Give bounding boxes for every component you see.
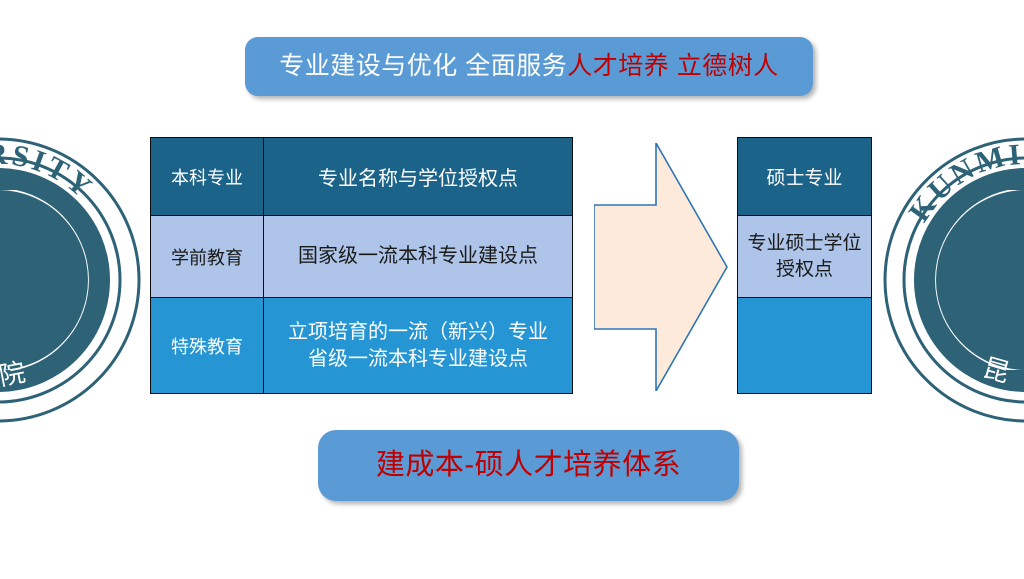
undergraduate-majors-table: 本科专业 专业名称与学位授权点 学前教育 国家级一流本科专业建设点 特殊教育 立… [150, 137, 573, 394]
table-row: 学前教育 国家级一流本科专业建设点 [151, 216, 573, 298]
table-header-cell-undergrad-major: 本科专业 [151, 138, 264, 216]
table-cell-professional-master-degree: 专业硕士学位 授权点 [738, 216, 872, 298]
top-banner-segment-red: 人才培养 立德树人 [567, 52, 778, 80]
bottom-banner: 建成本-硕人才培养体系 [318, 430, 739, 501]
table-cell-special-education: 特殊教育 [151, 298, 264, 394]
table-cell-preschool-education: 学前教育 [151, 216, 264, 298]
table-cell-empty [738, 298, 872, 394]
bottom-banner-text: 建成本-硕人才培养体系 [376, 451, 681, 480]
master-majors-table: 硕士专业 专业硕士学位 授权点 [737, 137, 872, 394]
right-arrow-shape [594, 143, 728, 391]
university-logo-right: KUNMING U 昆 明 [876, 130, 1024, 430]
table-row: 专业硕士学位 授权点 [738, 216, 872, 298]
table-row [738, 298, 872, 394]
table-row: 硕士专业 [738, 138, 872, 216]
arrow-polygon [594, 143, 727, 391]
top-banner-segment-white: 专业建设与优化 全面服务 [279, 52, 567, 80]
cell-line-1: 立项培育的一流（新兴）专业 [268, 319, 568, 345]
top-banner-text: 专业建设与优化 全面服务人才培养 立德树人 [279, 54, 778, 79]
slide-canvas: UNIVERSITY 学 院 KUNMING U 昆 明 [0, 0, 1024, 579]
table-header-cell-master-major: 硕士专业 [738, 138, 872, 216]
university-logo-left: UNIVERSITY 学 院 [0, 130, 148, 430]
table-cell-preschool-education-detail: 国家级一流本科专业建设点 [264, 216, 573, 298]
cell-line-2: 授权点 [742, 257, 867, 282]
table-row: 本科专业 专业名称与学位授权点 [151, 138, 573, 216]
table-cell-special-education-detail: 立项培育的一流（新兴）专业 省级一流本科专业建设点 [264, 298, 573, 394]
cell-line-1: 专业硕士学位 [742, 231, 867, 256]
table-row: 特殊教育 立项培育的一流（新兴）专业 省级一流本科专业建设点 [151, 298, 573, 394]
table-header-cell-major-and-degree: 专业名称与学位授权点 [264, 138, 573, 216]
cell-line-1: 国家级一流本科专业建设点 [268, 243, 568, 269]
top-banner: 专业建设与优化 全面服务人才培养 立德树人 [245, 37, 813, 96]
cell-line-2: 省级一流本科专业建设点 [268, 346, 568, 372]
